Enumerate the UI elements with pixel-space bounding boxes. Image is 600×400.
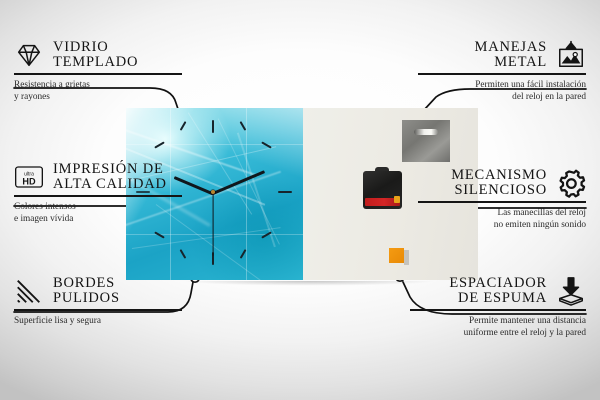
foam-spacer [389,248,404,263]
title-underline [410,309,586,311]
hanger-slot [414,129,438,135]
feature-title: IMPRESIÓN DE ALTA CALIDAD [53,162,167,192]
metal-hanger-plate [402,120,450,162]
picture-frame-hanger-icon [556,40,586,70]
feature-impresion-alta-calidad: ultra HD IMPRESIÓN DE ALTA CALIDAD Color… [14,162,182,225]
feature-description: Permiten una fácil instalación del reloj… [418,79,586,104]
feature-description: Colores intensos e imagen vívida [14,201,182,226]
clock-hands-hub [211,190,215,194]
title-underline [418,201,586,203]
feature-title: ESPACIADOR DE ESPUMA [449,276,547,306]
title-underline [418,73,586,75]
feature-title: MANEJAS METAL [475,40,547,70]
feature-description: Superficie lisa y segura [14,315,182,327]
feature-espaciador-espuma: ESPACIADOR DE ESPUMA Permite mantener un… [410,276,586,339]
feature-bordes-pulidos: BORDES PULIDOS Superficie lisa y segura [14,276,182,327]
diamond-icon [14,40,44,70]
ultra-hd-icon: ultra HD [14,162,44,192]
feature-mecanismo-silencioso: MECANISMO SILENCIOSO Las manecillas del … [418,168,586,231]
title-underline [14,73,182,75]
feature-description: Las manecillas del reloj no emiten ningú… [418,207,586,232]
title-underline [14,195,182,197]
clock-second-hand [212,194,213,256]
title-underline [14,309,182,311]
feature-title: VIDRIO TEMPLADO [53,40,138,70]
infographic-canvas: VIDRIO TEMPLADO Resistencia a grietas y … [0,0,600,400]
foam-spacer-shadow [404,250,409,265]
gear-icon [556,168,586,198]
ultra-hd-icon-large-text: HD [22,177,36,187]
feature-title: BORDES PULIDOS [53,276,120,306]
feature-description: Permite mantener una distancia uniforme … [410,315,586,340]
feature-vidrio-templado: VIDRIO TEMPLADO Resistencia a grietas y … [14,40,182,103]
feature-manejas-metal: MANEJAS METAL Permiten una fácil instala… [418,40,586,103]
clock-tick [212,120,214,133]
polished-edge-icon [14,276,44,306]
battery-tip [394,196,400,203]
feature-title: MECANISMO SILENCIOSO [451,168,547,198]
foam-spacer-arrow-icon [556,276,586,306]
feature-description: Resistencia a grietas y rayones [14,79,182,104]
